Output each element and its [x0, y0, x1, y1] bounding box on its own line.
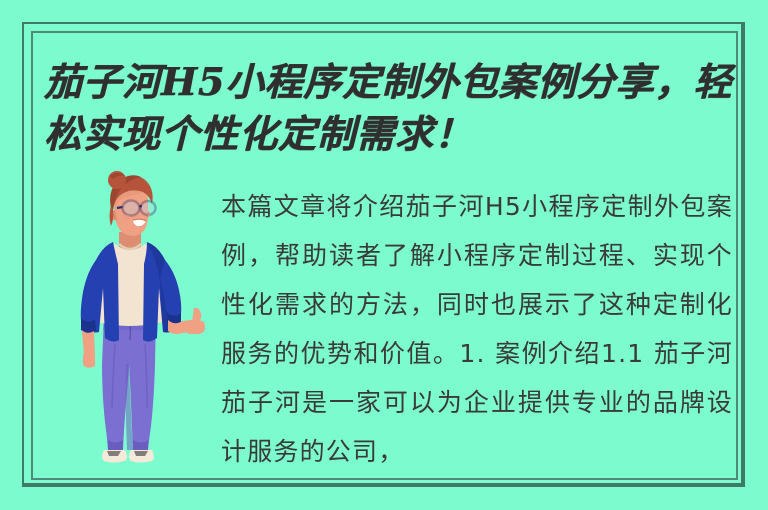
page-title: 茄子河H5小程序定制外包案例分享，轻松实现个性化定制需求！ — [44, 56, 734, 160]
poster-canvas: 茄子河H5小程序定制外包案例分享，轻松实现个性化定制需求！ — [0, 0, 768, 510]
illustration-standing-person — [55, 168, 205, 468]
article-body: 本篇文章将介绍茄子河H5小程序定制外包案例，帮助读者了解小程序定制过程、实现个性… — [221, 182, 733, 476]
